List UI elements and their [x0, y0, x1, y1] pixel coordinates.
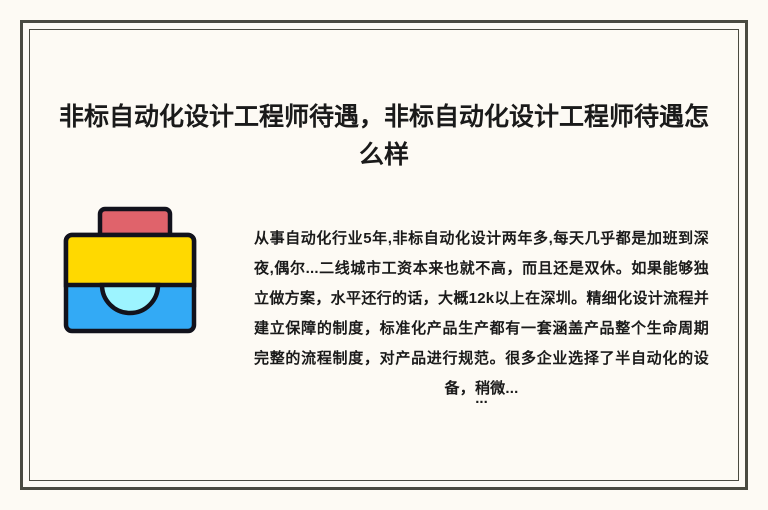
- article-continuation: ...: [254, 384, 709, 414]
- page-title: 非标自动化设计工程师待遇，非标自动化设计工程师待遇怎么样: [57, 98, 711, 174]
- article-excerpt: 从事自动化行业5年,非标自动化设计两年多,每天几乎都是加班到深夜,偶尔...二线…: [254, 224, 709, 404]
- toolbox-illustration: [58, 201, 203, 341]
- article-page: 非标自动化设计工程师待遇，非标自动化设计工程师待遇怎么样 从事自动化行业5年,非…: [0, 0, 768, 510]
- toolbox-lid: [66, 235, 194, 285]
- toolbox-icon: [58, 201, 203, 341]
- page-content: 非标自动化设计工程师待遇，非标自动化设计工程师待遇怎么样 从事自动化行业5年,非…: [29, 29, 739, 481]
